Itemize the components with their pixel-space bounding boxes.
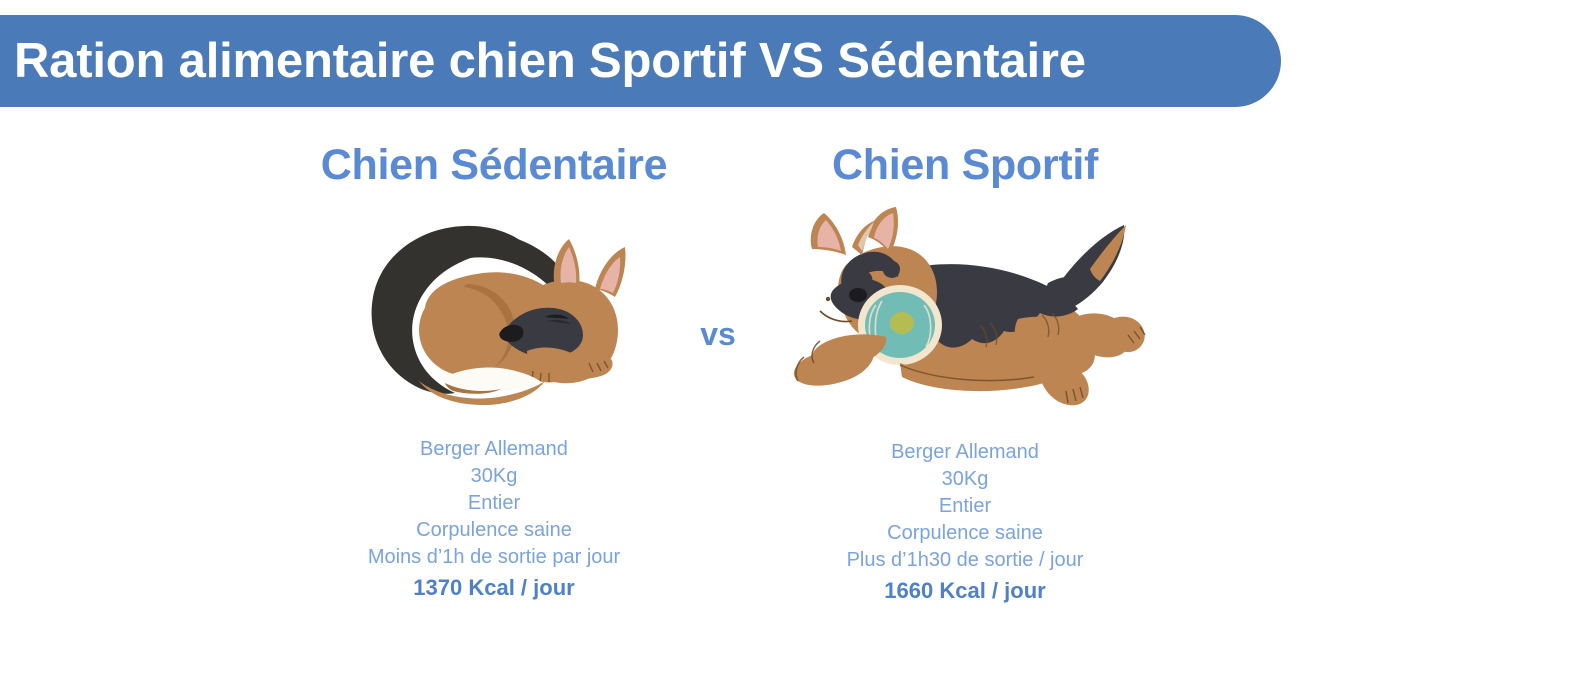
column-sedentary: Chien Sédentaire [259,132,729,603]
ration-value-sedentary: 1370 Kcal / jour [368,572,620,603]
page-title: Ration alimentaire chien Sportif VS Séde… [0,37,1086,86]
sleeping-dog-illustration [359,213,629,408]
running-dog-illustration [790,207,1150,407]
spec-line: Plus d’1h30 de sortie / jour [847,547,1084,574]
spec-line: Berger Allemand [847,439,1084,466]
infographic-canvas: Ration alimentaire chien Sportif VS Séde… [0,0,1578,688]
spec-line: Corpulence saine [368,517,620,544]
spec-line: Corpulence saine [847,520,1084,547]
spec-line: Entier [847,493,1084,520]
spec-line: Moins d’1h de sortie par jour [368,544,620,571]
spec-line: Berger Allemand [368,436,620,463]
spec-list-sporty: Berger Allemand 30Kg Entier Corpulence s… [847,439,1084,606]
column-heading-sedentary: Chien Sédentaire [321,142,667,189]
spec-line: 30Kg [368,463,620,490]
spec-line: Entier [368,490,620,517]
column-heading-sporty: Chien Sportif [832,142,1098,189]
spec-line: 30Kg [847,466,1084,493]
title-banner: Ration alimentaire chien Sportif VS Séde… [0,15,1281,107]
spec-list-sedentary: Berger Allemand 30Kg Entier Corpulence s… [368,436,620,603]
column-sporty: Chien Sportif [730,132,1200,606]
ration-value-sporty: 1660 Kcal / jour [847,575,1084,606]
